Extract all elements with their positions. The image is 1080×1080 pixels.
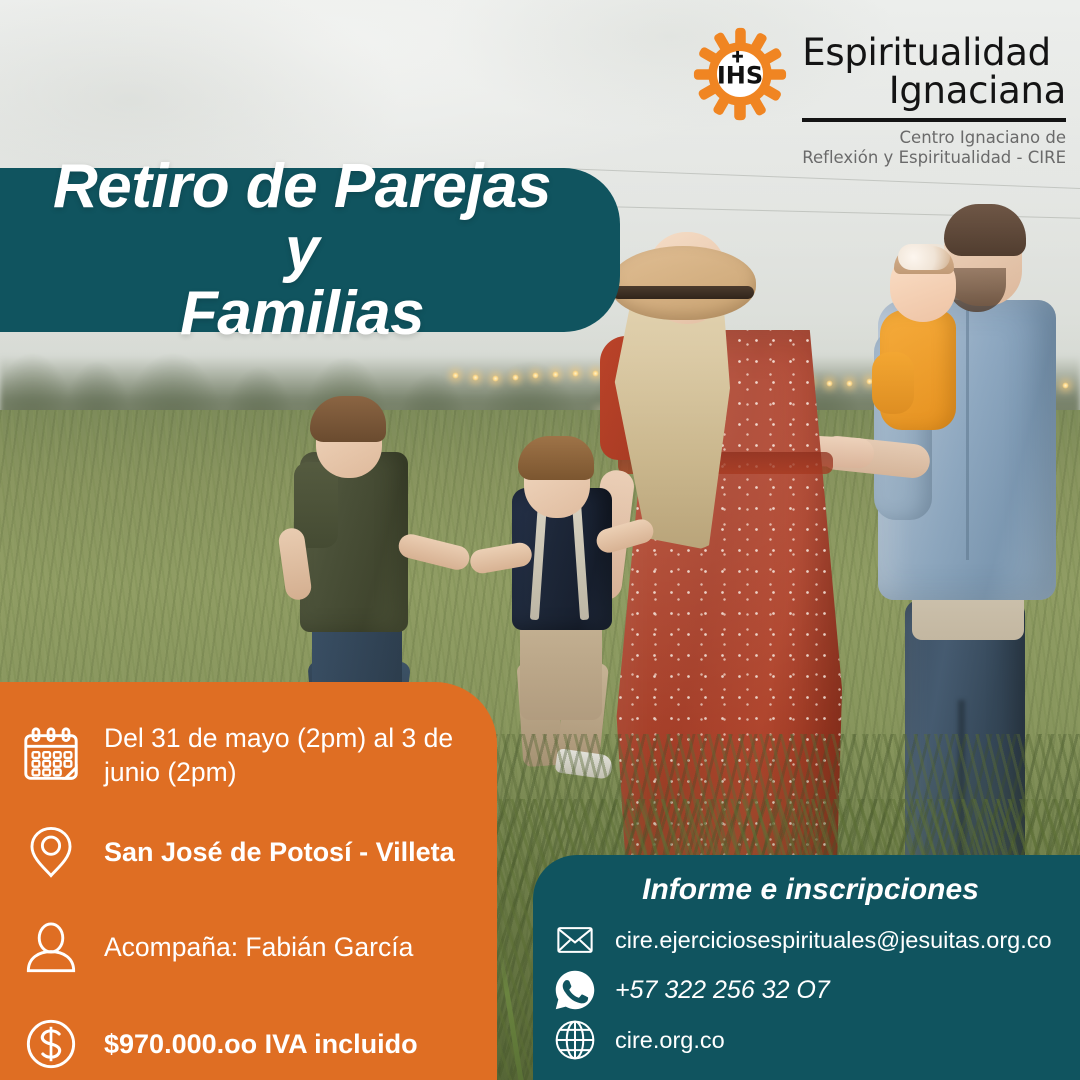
logo-divider <box>802 118 1066 122</box>
contact-row-email[interactable]: cire.ejerciciosespirituales@jesuitas.org… <box>551 915 1070 965</box>
ihs-sunburst-icon: IHS <box>692 26 788 122</box>
detail-text-location: San José de Potosí - Villeta <box>104 835 455 870</box>
organization-logo: IHS Espiritualidad Ignaciana Centro Igna… <box>692 26 1066 168</box>
poster-canvas: IHS Espiritualidad Ignaciana Centro Igna… <box>0 0 1080 1080</box>
detail-row-dates: Del 31 de mayo (2pm) al 3 de junio (2pm) <box>12 708 479 804</box>
calendar-icon <box>12 717 90 795</box>
person-icon <box>12 909 90 987</box>
detail-row-price: $970.000.oo IVA incluido <box>12 996 479 1080</box>
ihs-monogram: IHS <box>717 62 763 90</box>
detail-text-facilitator: Acompaña: Fabián García <box>104 931 413 965</box>
globe-icon <box>551 1016 599 1064</box>
dollar-circle-icon <box>12 1005 90 1080</box>
event-details-panel: Del 31 de mayo (2pm) al 3 de junio (2pm)… <box>0 682 497 1080</box>
whatsapp-icon <box>551 966 599 1014</box>
detail-text-price: $970.000.oo IVA incluido <box>104 1027 418 1062</box>
logo-subtitle-line-1: Centro Ignaciano de <box>802 128 1066 148</box>
contact-phone: +57 322 256 32 O7 <box>615 976 830 1005</box>
contact-website: cire.org.co <box>615 1027 725 1054</box>
location-pin-icon <box>12 813 90 891</box>
logo-wordmark: Espiritualidad Ignaciana Centro Ignacian… <box>802 26 1066 168</box>
logo-subtitle-line-2: Reflexión y Espiritualidad - CIRE <box>802 148 1066 168</box>
contact-panel: Informe e inscripciones cire.ejerciciose… <box>533 855 1080 1080</box>
logo-line-2: Ignaciana <box>802 72 1066 110</box>
contact-row-whatsapp[interactable]: +57 322 256 32 O7 <box>551 965 1070 1015</box>
detail-row-location: San José de Potosí - Villeta <box>12 804 479 900</box>
contact-email: cire.ejerciciosespirituales@jesuitas.org… <box>615 927 1052 954</box>
page-title: Retiro de Parejas y Familias <box>30 155 574 345</box>
title-line-1: Retiro de Parejas y <box>30 155 574 281</box>
detail-text-dates: Del 31 de mayo (2pm) al 3 de junio (2pm) <box>104 722 479 790</box>
contact-heading: Informe e inscripciones <box>551 873 1070 907</box>
logo-line-1: Espiritualidad <box>802 34 1066 72</box>
title-banner: Retiro de Parejas y Familias <box>0 168 620 332</box>
contact-row-website[interactable]: cire.org.co <box>551 1015 1070 1065</box>
title-line-2: Familias <box>30 282 574 345</box>
envelope-icon <box>551 916 599 964</box>
detail-row-facilitator: Acompaña: Fabián García <box>12 900 479 996</box>
